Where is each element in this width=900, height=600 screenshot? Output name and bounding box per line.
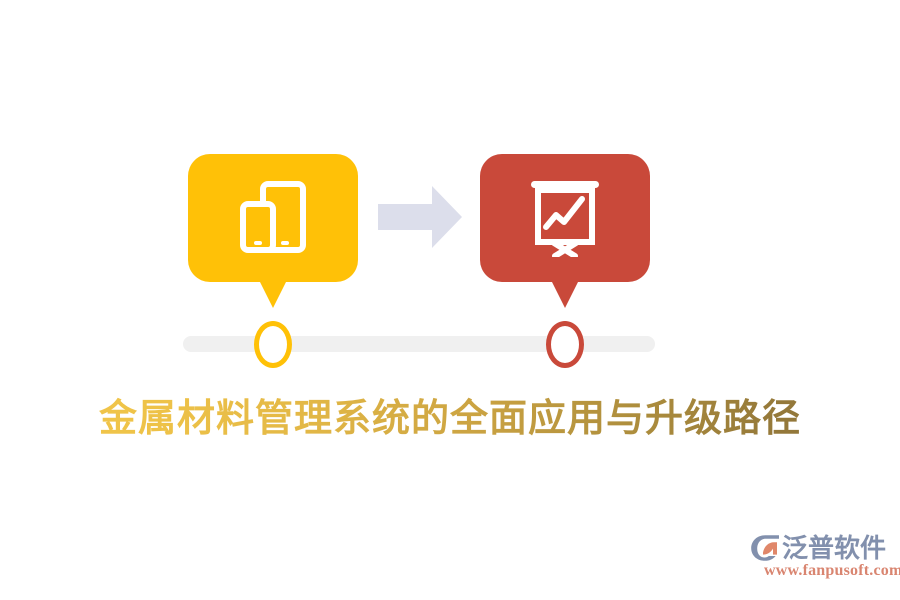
watermark-brand-name: 泛普软件 bbox=[782, 534, 886, 562]
step-1-bubble[interactable] bbox=[188, 154, 358, 282]
watermark: 泛普软件 www.fanpusoft.com bbox=[750, 532, 888, 586]
fanpu-swirl-logo-icon bbox=[750, 534, 780, 562]
page-title: 金属材料管理系统的全面应用与升级路径 bbox=[0, 395, 900, 443]
step-1-marker[interactable] bbox=[254, 321, 292, 368]
arrow-right-icon bbox=[378, 186, 462, 248]
watermark-brand-row: 泛普软件 bbox=[750, 534, 886, 562]
step-2-bubble-tail bbox=[551, 280, 579, 308]
infographic-diagram bbox=[0, 0, 900, 380]
watermark-url: www.fanpusoft.com bbox=[764, 562, 900, 580]
step-2-marker[interactable] bbox=[546, 321, 584, 368]
step-2-bubble[interactable] bbox=[480, 154, 650, 282]
devices-tablet-phone-icon bbox=[188, 154, 358, 282]
step-1-bubble-tail bbox=[259, 280, 287, 308]
canvas: 金属材料管理系统的全面应用与升级路径 泛普软件 www.fanpusoft.co… bbox=[0, 0, 900, 600]
presentation-chart-board-icon bbox=[480, 154, 650, 282]
